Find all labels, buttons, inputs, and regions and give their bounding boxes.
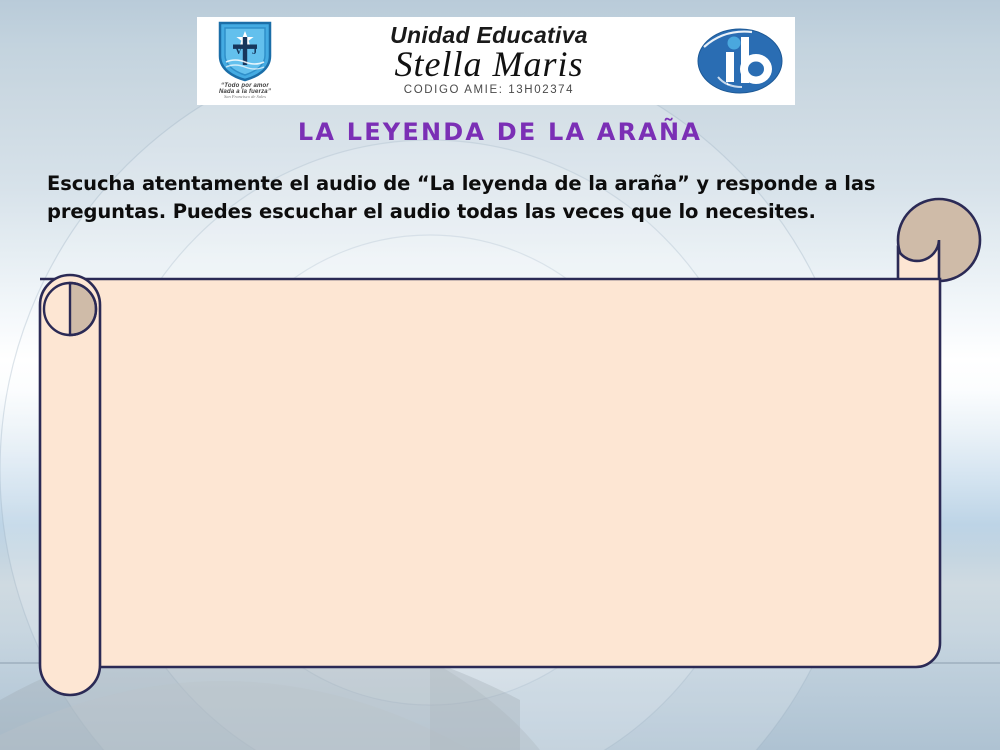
shield-motto: “Todo por amor Nada a la fuerza” San Fra… — [219, 83, 271, 100]
school-shield-crest-icon: V J — [216, 20, 274, 82]
ib-logo-icon — [694, 25, 786, 97]
svg-text:V: V — [235, 46, 243, 57]
parchment-scroll-graphic — [0, 195, 1000, 725]
school-amie-code: CODIGO AMIE: 13H02374 — [404, 84, 574, 96]
page-title: LA LEYENDA DE LA ARAÑA — [0, 118, 1000, 146]
slide-canvas: V J “Todo por amor Nada a la fuerza” San… — [0, 0, 1000, 750]
ib-logo-container — [685, 17, 795, 105]
school-logo-banner: V J “Todo por amor Nada a la fuerza” San… — [197, 17, 795, 105]
scroll-body — [40, 279, 940, 667]
shield-motto-line3: San Francisco de Sales — [219, 95, 271, 100]
svg-text:J: J — [252, 46, 257, 57]
school-name-line2: Stella Maris — [395, 46, 584, 84]
scroll-roll-left — [40, 275, 100, 695]
school-name-block: Unidad Educativa Stella Maris CODIGO AMI… — [293, 17, 685, 105]
parchment-scroll — [0, 195, 1000, 725]
shield-crest-container: V J “Todo por amor Nada a la fuerza” San… — [197, 17, 293, 105]
